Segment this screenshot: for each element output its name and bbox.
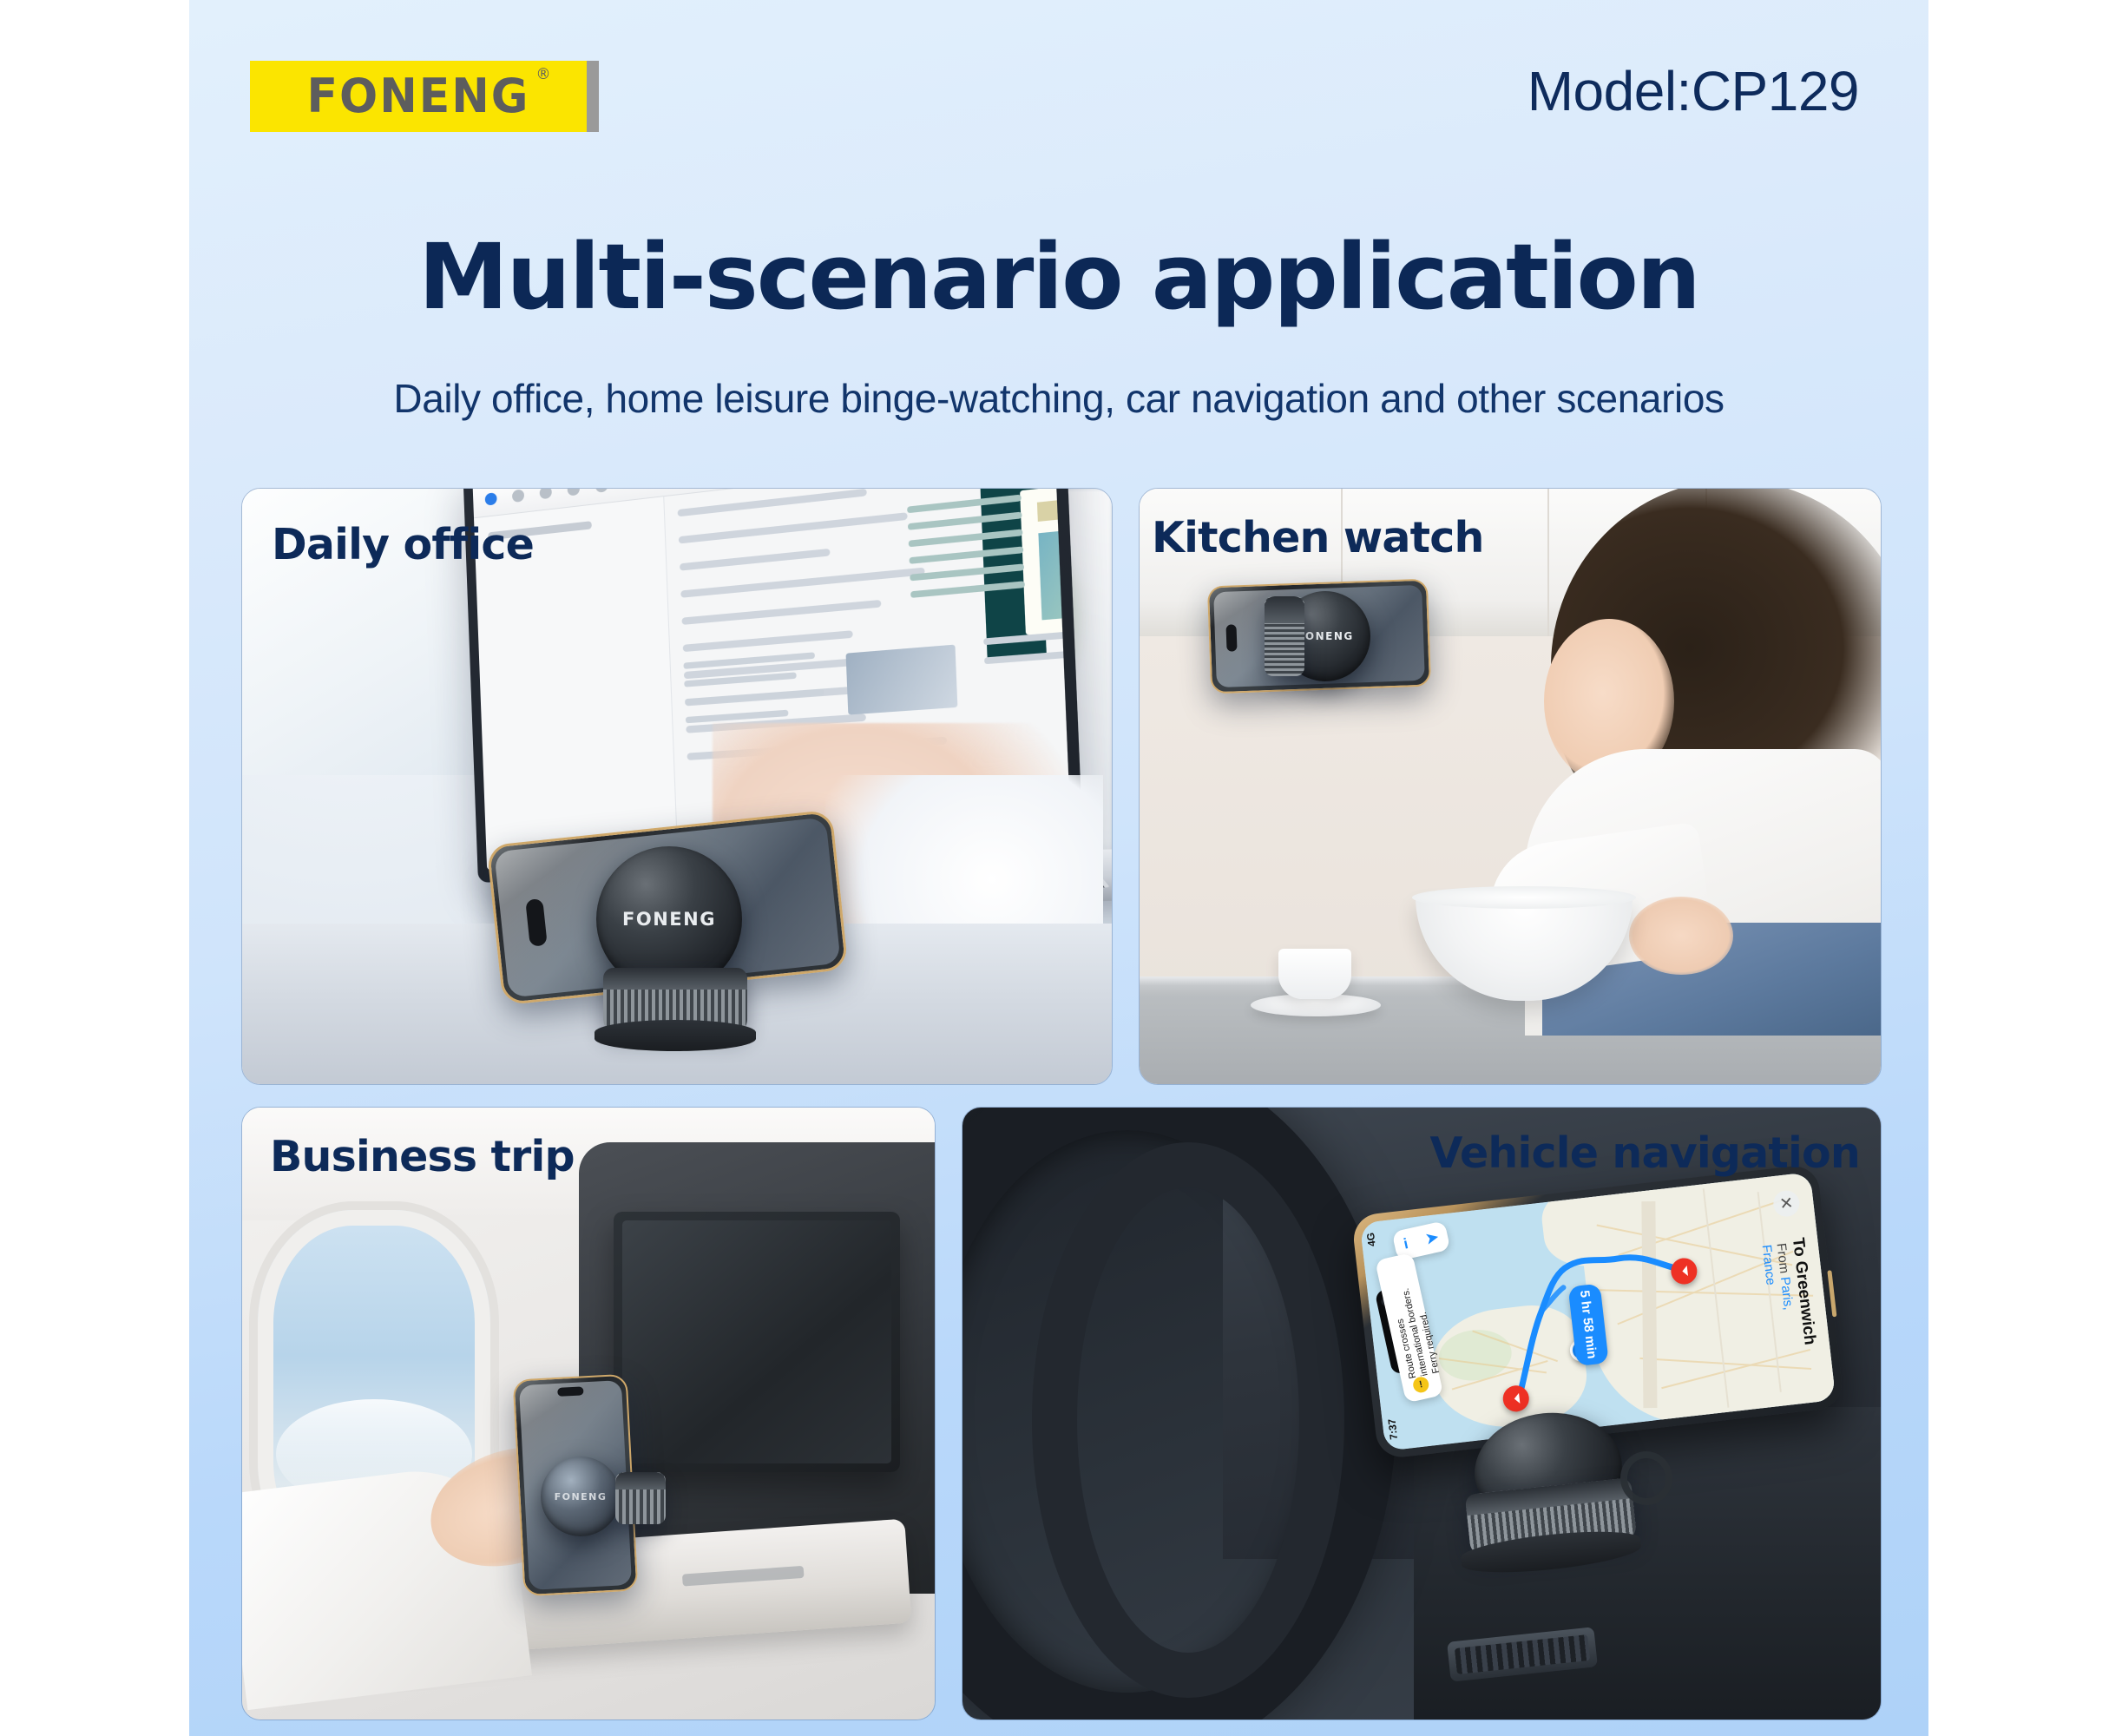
- foneng-logo: FONENG ®: [250, 61, 587, 132]
- woman-hand: [1629, 897, 1733, 975]
- page-subtitle: Daily office, home leisure binge-watchin…: [189, 375, 1928, 422]
- product-marketing-image: FONENG ® Model:CP129 Multi-scenario appl…: [0, 0, 2122, 1736]
- logo-wordmark: FONENG ®: [307, 69, 530, 124]
- hero-card-title: [1037, 488, 1072, 522]
- magnetic-disc: FONENG: [541, 1457, 621, 1536]
- logo-accent-bar: [587, 61, 599, 132]
- content-stage: FONENG ® Model:CP129 Multi-scenario appl…: [189, 0, 1928, 1736]
- scene-kitchen-watch: FONENG: [1140, 489, 1881, 1084]
- page-title: Multi-scenario application: [189, 224, 1928, 330]
- navigate-arrow-icon[interactable]: ➤: [1424, 1228, 1440, 1248]
- page-header: FONENG ® Model:CP129: [189, 0, 1928, 165]
- registered-trademark-icon: ®: [535, 65, 550, 83]
- network-status-label: 4G: [1364, 1232, 1378, 1246]
- logo-text: FONENG: [307, 69, 530, 124]
- panel-vehicle-navigation[interactable]: 5 hr 58 min 4G 7:37 i ➤ Route crosses in…: [962, 1107, 1882, 1720]
- panel-label-business-trip: Business trip: [270, 1132, 575, 1181]
- panel-daily-office[interactable]: FONENG Daily office: [241, 488, 1113, 1085]
- warning-icon: !: [1411, 1376, 1429, 1394]
- mount-foot: [595, 1020, 756, 1051]
- page-hero-banner: [978, 488, 1047, 657]
- info-icon[interactable]: i: [1402, 1235, 1409, 1253]
- disc-brand-label: FONENG: [555, 1491, 608, 1503]
- disc-brand-label: FONENG: [1297, 630, 1354, 642]
- disc-brand-label: FONENG: [622, 909, 716, 930]
- panel-label-daily-office: Daily office: [272, 520, 534, 569]
- scene-vehicle-navigation: 5 hr 58 min 4G 7:37 i ➤ Route crosses in…: [962, 1108, 1881, 1720]
- hero-card: [1020, 488, 1071, 635]
- panel-label-vehicle-navigation: Vehicle navigation: [1430, 1128, 1860, 1178]
- phone-mount-vehicle: [1449, 1413, 1709, 1587]
- hero-card-image: [1038, 505, 1071, 621]
- scene-daily-office: FONENG: [242, 489, 1112, 1084]
- phone-mount-business: FONENG: [503, 1377, 693, 1594]
- scenario-grid: FONENG Daily office: [241, 488, 1882, 1720]
- panel-label-kitchen-watch: Kitchen watch: [1152, 513, 1484, 562]
- steering-wheel-inner: [1032, 1142, 1344, 1698]
- scene-business-trip: FONENG: [242, 1108, 935, 1720]
- clock-label: 7:37: [1386, 1418, 1401, 1440]
- mount-knurled-base: [615, 1472, 666, 1524]
- panel-kitchen-watch[interactable]: FONENG Kitchen watch: [1139, 488, 1882, 1085]
- model-label: Model:CP129: [1527, 59, 1859, 123]
- phone-mount-kitchen: FONENG: [1209, 582, 1452, 713]
- dynamic-island-icon: [557, 1386, 584, 1396]
- dynamic-island-icon: [1225, 625, 1238, 653]
- phone-mount-office: FONENG: [494, 827, 867, 1079]
- panel-business-trip[interactable]: FONENG Business trip: [241, 1107, 936, 1720]
- mount-knurled-base: [1265, 596, 1304, 676]
- hero-text-lines: [907, 495, 1025, 608]
- phone-screen-map[interactable]: 5 hr 58 min 4G 7:37 i ➤ Route crosses in…: [1360, 1172, 1836, 1450]
- coffee-cup: [1278, 949, 1351, 999]
- tray-logo: [682, 1566, 805, 1587]
